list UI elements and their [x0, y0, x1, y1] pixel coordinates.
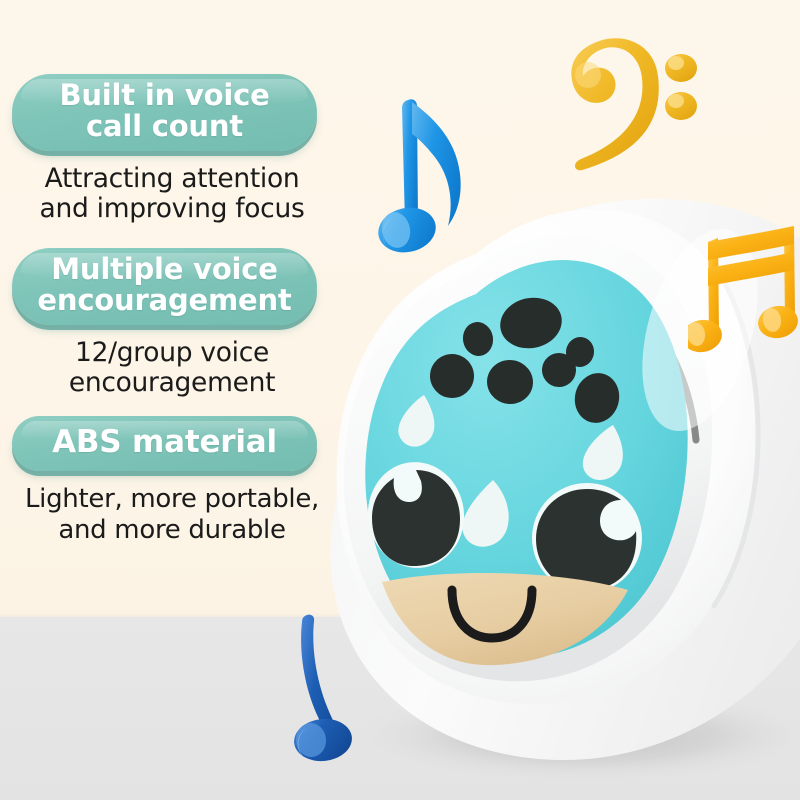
feature-description-2: 12/group voice encouragement — [0, 338, 344, 399]
feature-description-3-line-2: and more durable — [58, 515, 285, 545]
feature-description-1: Attracting attention and improving focus — [0, 164, 344, 225]
eighth-note-blue-icon — [372, 88, 484, 260]
feature-pill-3[interactable]: ABS material — [12, 416, 317, 471]
feature-description-3-line-1: Lighter, more portable, — [25, 484, 319, 514]
feature-description-3: Lighter, more portable, and more durable — [0, 484, 344, 544]
beamed-notes-icon — [688, 218, 800, 364]
feature-block-1: Built in voice call count Attracting att… — [0, 74, 344, 225]
feature-pill-1-line-1: Built in voice — [59, 78, 269, 112]
feature-pill-2[interactable]: Multiple voice encouragement — [12, 248, 317, 325]
feature-pill-1[interactable]: Built in voice call count — [12, 74, 317, 151]
quarter-note-blue-icon — [283, 608, 375, 770]
feature-pill-2-line-2: encouragement — [37, 283, 291, 317]
feature-description-2-line-2: encouragement — [69, 367, 275, 398]
feature-block-3: ABS material Lighter, more portable, and… — [0, 416, 344, 545]
bass-clef-icon — [558, 28, 724, 184]
product-feature-graphic: Built in voice call count Attracting att… — [0, 0, 800, 800]
feature-description-1-line-2: and improving focus — [40, 193, 305, 224]
feature-pill-1-line-2: call count — [86, 109, 243, 143]
feature-pill-2-line-1: Multiple voice — [51, 252, 278, 286]
feature-description-1-line-1: Attracting attention — [45, 163, 300, 194]
feature-block-2: Multiple voice encouragement 12/group vo… — [0, 248, 344, 399]
feature-pill-3-line-1: ABS material — [52, 424, 277, 460]
feature-description-2-line-1: 12/group voice — [75, 337, 269, 368]
